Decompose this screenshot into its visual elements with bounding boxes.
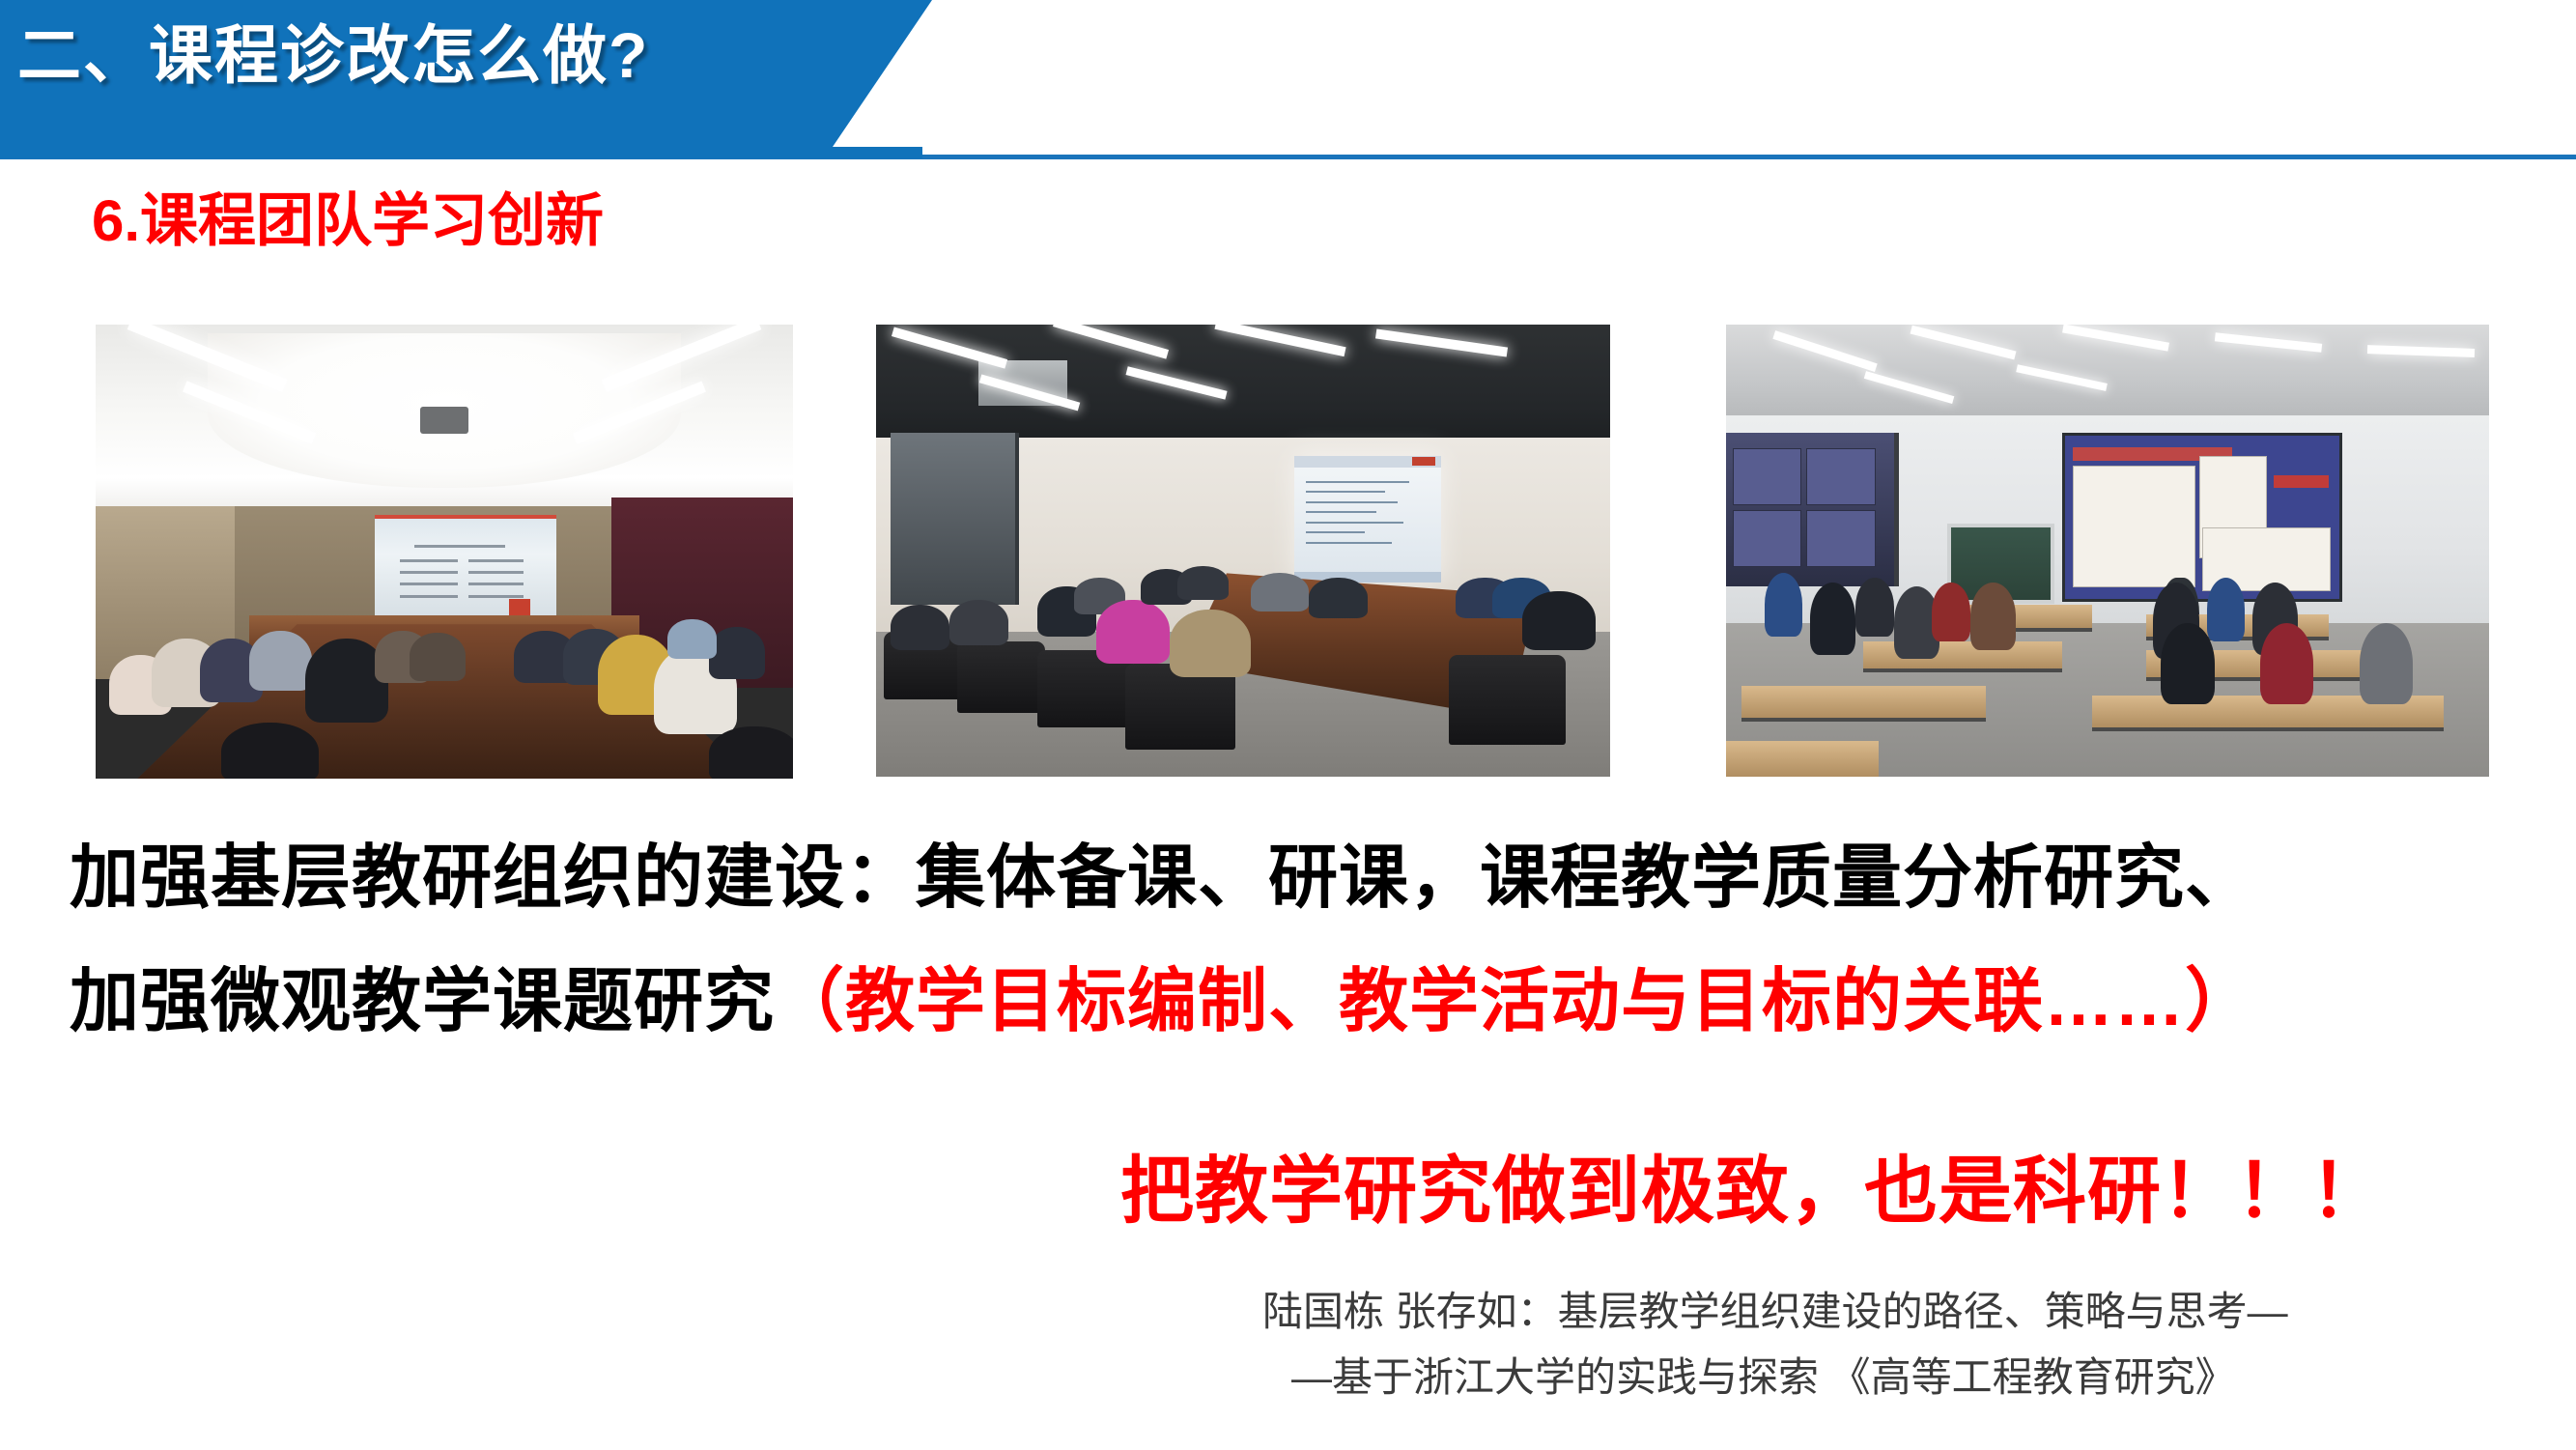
photo-meeting-room-dark-ceiling	[876, 325, 1610, 777]
section-heading: 6.课程团队学习创新	[92, 189, 604, 253]
led-display-wall	[2062, 433, 2342, 601]
glass-wall-left	[1726, 433, 1899, 586]
body-text-line-2: 加强微观教学课题研究（教学目标编制、教学活动与目标的关联……）	[70, 967, 2255, 1037]
photo-meeting-room-conference-table	[96, 325, 793, 779]
body-text-line-2-red: （教学目标编制、教学活动与目标的关联……）	[775, 963, 2255, 1040]
ceiling-projector	[420, 407, 469, 434]
body-text-line-1: 加强基层教研组织的建设：集体备课、研课，课程教学质量分析研究、	[70, 843, 2255, 913]
photo-classroom-led-screen	[1726, 325, 2489, 777]
citation-line-1: 陆国栋 张存如：基层教学组织建设的路径、策略与思考—	[1262, 1292, 2288, 1332]
student-desk	[1741, 686, 1986, 722]
punch-line: 把教学研究做到极致，也是科研！！！	[1120, 1155, 2385, 1229]
seated-participants	[96, 579, 793, 779]
body-text-line-2-black: 加强微观教学课题研究	[70, 963, 775, 1040]
chairs-and-participants	[876, 551, 1610, 777]
citation-line-2: —基于浙江大学的实践与探索 《高等工程教育研究》	[1291, 1357, 2236, 1398]
student-desk	[1726, 741, 1879, 777]
header-banner-underline	[0, 147, 922, 158]
page-title: 二、课程诊改怎么做?	[17, 23, 649, 87]
student-desk	[1863, 641, 2061, 672]
